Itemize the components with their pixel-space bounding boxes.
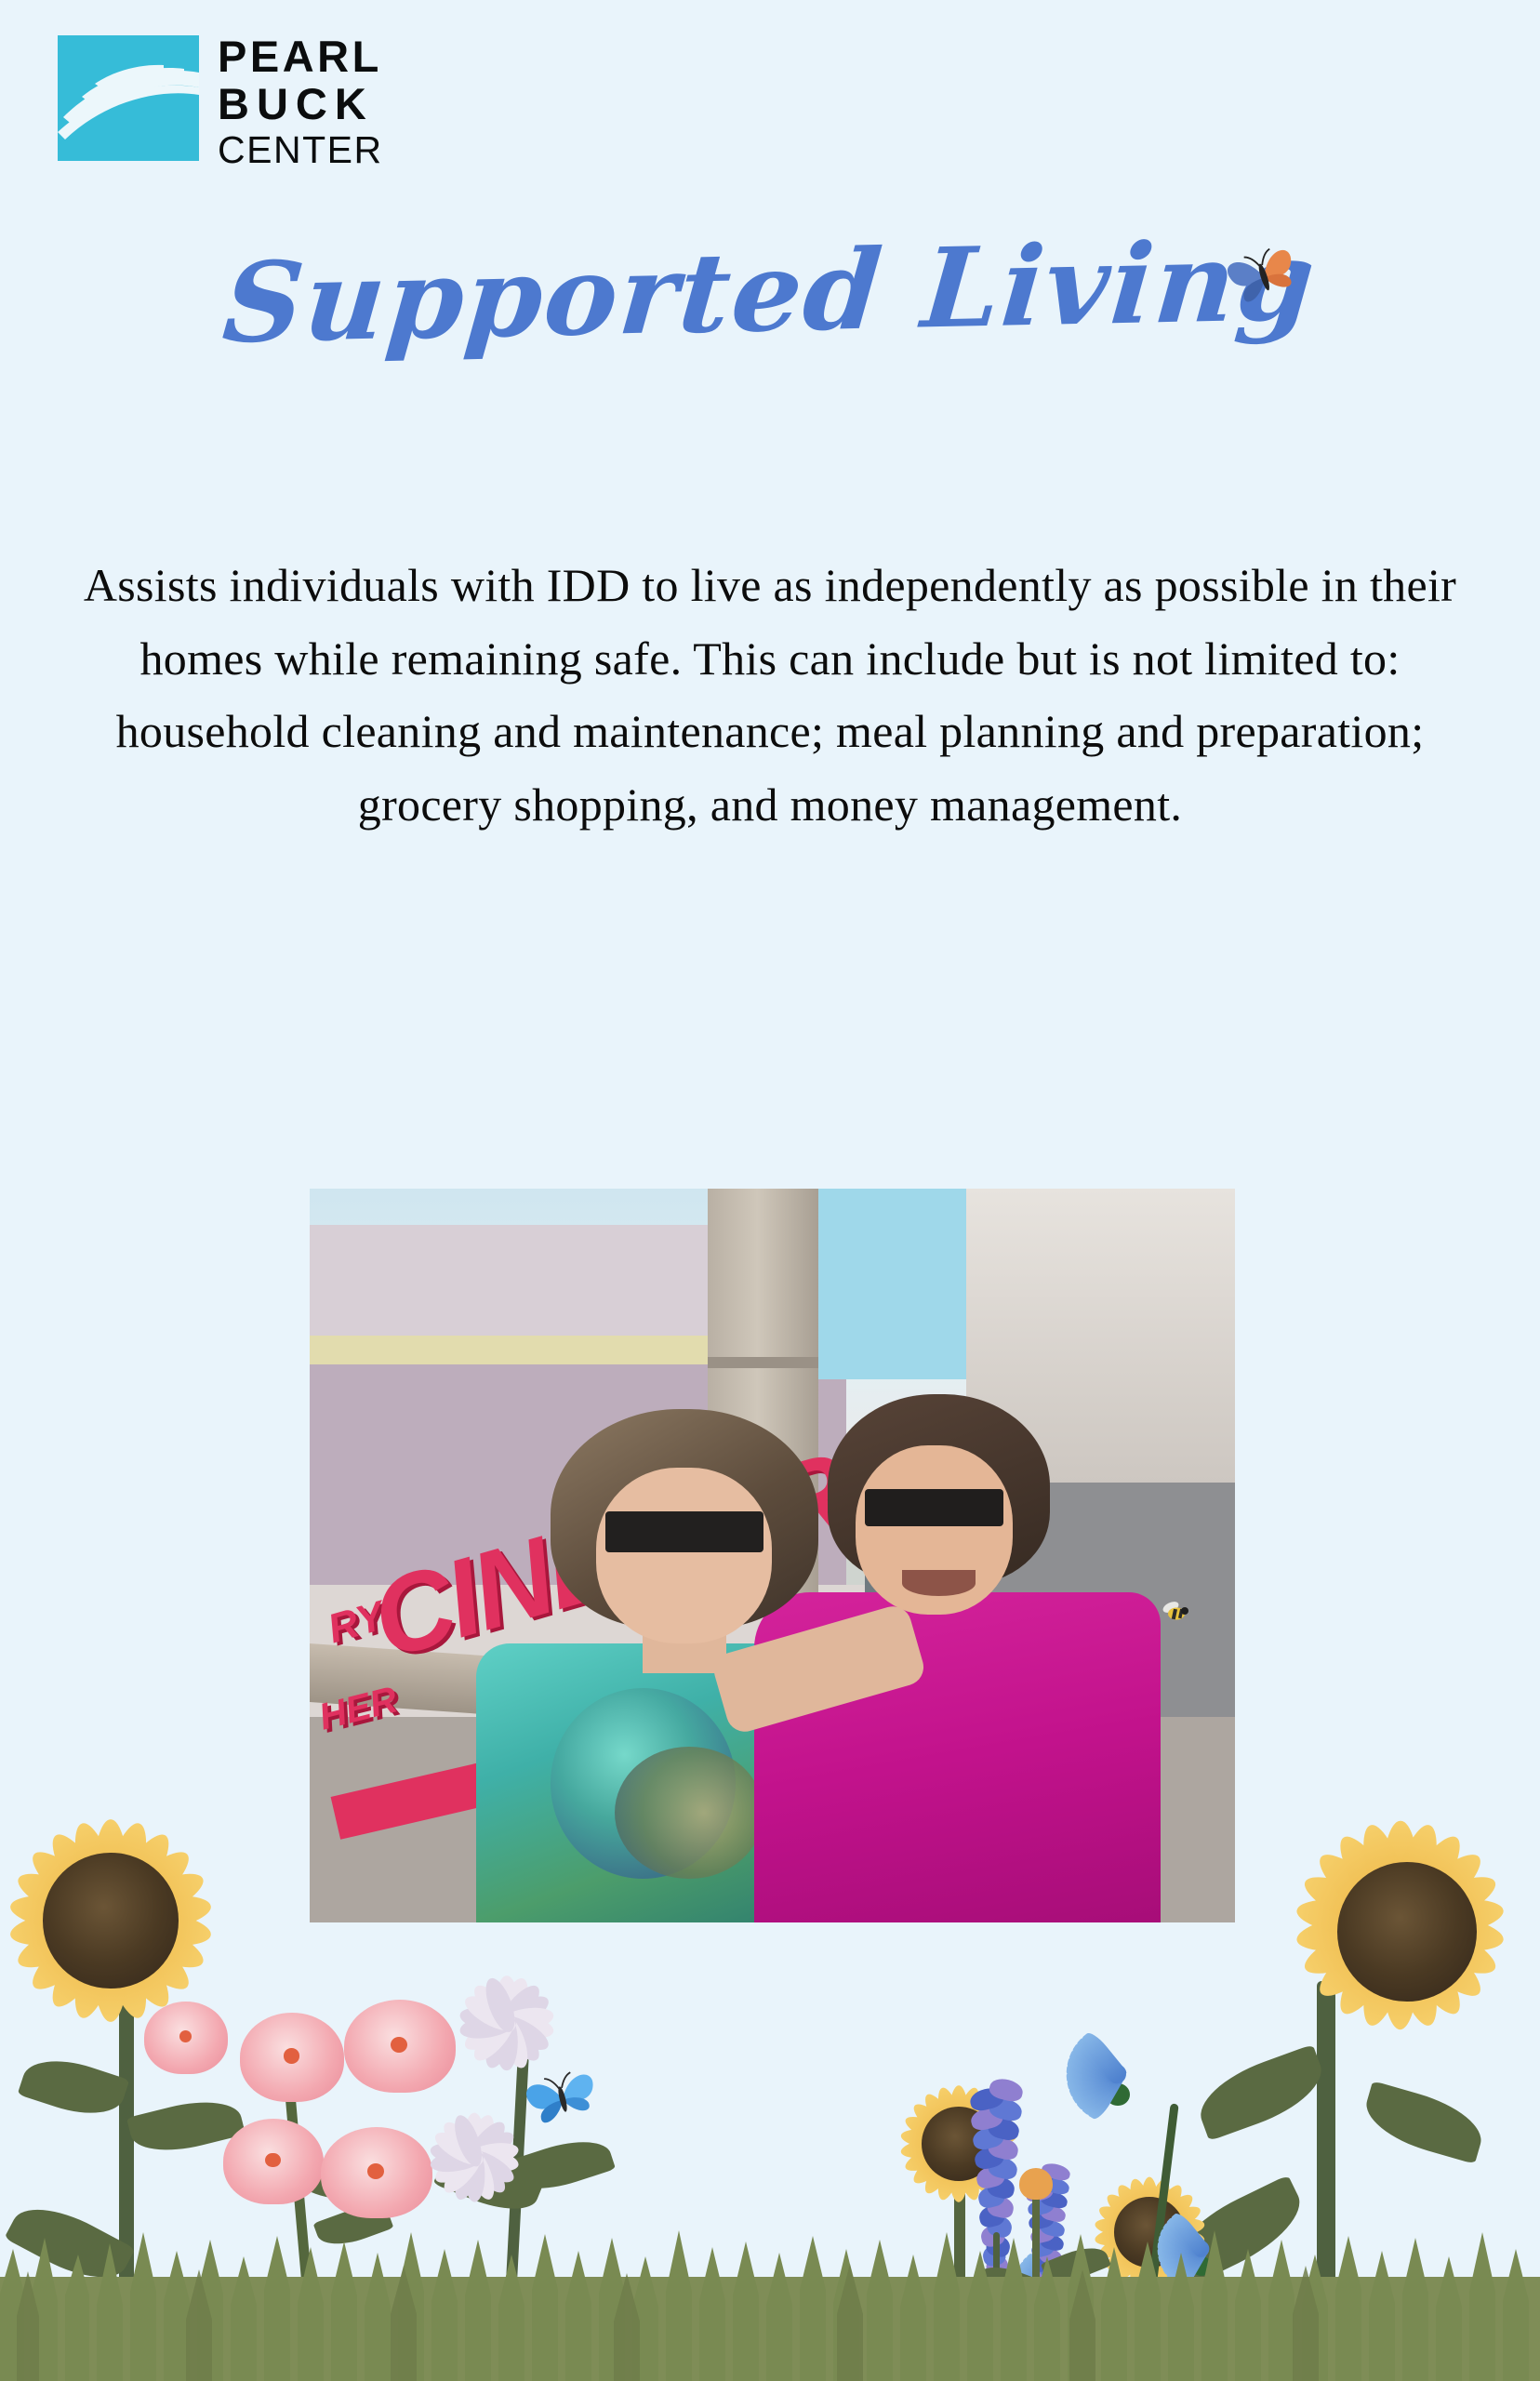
bee-icon <box>1161 1600 1192 1624</box>
sunflower-petals <box>870 2055 1047 2232</box>
daisy-petal <box>464 2148 485 2202</box>
sunflower-petal <box>1329 1828 1427 1954</box>
lavender-bud <box>1029 2225 1055 2244</box>
lavender-bud <box>984 2282 1008 2307</box>
daisy-petal <box>460 2117 511 2172</box>
daisy-petal <box>468 2009 522 2067</box>
sunflower-petal <box>83 1841 199 1948</box>
daisy-petal <box>449 2146 487 2203</box>
blue-cornflower-petal <box>1167 2240 1210 2287</box>
blue-cornflower-petal <box>1015 2274 1056 2291</box>
blue-cornflower-petal <box>1078 2029 1127 2084</box>
photo-person-left-pattern-b <box>615 1747 763 1879</box>
blue-cornflower-petal <box>1016 2263 1058 2291</box>
blue-cornflower <box>1001 2241 1103 2325</box>
sunflower-petal <box>1095 2218 1164 2264</box>
sunflower-core <box>1337 1862 1477 2002</box>
flower-stem <box>283 2066 317 2345</box>
sunflower-petal <box>1094 2221 1162 2250</box>
sunflower-petal <box>93 1899 128 2022</box>
sunflower-petal <box>943 2098 1010 2160</box>
lavender-bud <box>1025 2182 1055 2202</box>
sunflower-petal <box>1298 1866 1428 1951</box>
lavender-bud <box>1038 2289 1059 2308</box>
lavender-bud <box>1036 2296 1056 2315</box>
sunflower-petal <box>1135 2218 1203 2264</box>
blue-cornflower <box>1140 2200 1261 2297</box>
sunflower-petal <box>933 2085 972 2159</box>
sunflower-petal <box>8 1889 135 1941</box>
lavender-bud <box>973 2145 1006 2172</box>
flower-leaf <box>1162 2175 1313 2287</box>
blue-cornflower-petal <box>1017 2258 1059 2292</box>
lavender-bud <box>979 2223 1007 2248</box>
photo-person-left-face <box>596 1468 772 1643</box>
daisy-petal <box>496 2014 518 2070</box>
daisy-petal <box>464 2146 521 2175</box>
orange-sprig-bud <box>1019 2168 1053 2200</box>
daisy-petal <box>449 2112 487 2170</box>
lavender-sprig <box>963 2083 1029 2353</box>
program-description: Assists individuals with IDD to live as … <box>61 549 1479 841</box>
sunflower-petal <box>83 1894 199 2001</box>
sunflower-petal <box>943 2130 1016 2177</box>
pink-blossom-core <box>265 2153 280 2168</box>
daisy-petal <box>429 2140 485 2170</box>
blue-cornflower-petal <box>1162 2240 1209 2283</box>
page-title-text: Supported Living <box>219 226 1321 359</box>
sunflower-petal <box>933 2129 972 2202</box>
grass-band <box>0 2204 1540 2381</box>
sunflower <box>0 1767 264 2074</box>
daisy-petal <box>438 2117 488 2172</box>
daisy-petal <box>460 2009 521 2056</box>
blue-cornflower-petal <box>1157 2241 1206 2260</box>
pink-blossom <box>321 2127 432 2218</box>
sunflower-petal <box>1136 2221 1205 2250</box>
pearl-buck-center-logo: PEARL BUCK CENTER <box>58 35 383 169</box>
sunflower-petal <box>1377 1820 1448 1952</box>
daisy-petal <box>493 1975 533 2036</box>
sunflower-petal <box>1135 2188 1198 2247</box>
lavender-bud <box>1030 2240 1055 2259</box>
blue-cornflower-petal <box>1172 2241 1210 2290</box>
sunflower-petal <box>899 2132 972 2162</box>
sunflower-petal <box>1329 1896 1427 2023</box>
lavender-bud <box>988 2076 1026 2104</box>
blue-cornflower-petal <box>1067 2046 1125 2084</box>
sunflower-petal <box>1101 2188 1164 2247</box>
page-title: Supported Living <box>0 237 1540 347</box>
daisy-petal <box>468 1979 522 2037</box>
blue-cornflower-petal <box>1158 2240 1208 2273</box>
lavender-bud <box>988 2095 1024 2123</box>
pink-blossom <box>344 2000 456 2093</box>
sunflower-petal <box>901 2130 974 2177</box>
lavender-bud <box>984 2272 1008 2296</box>
sunflower-petal <box>11 1863 138 1946</box>
sunflower-petal <box>11 1895 138 1978</box>
sunflower-petal <box>1373 1899 1503 1985</box>
sunflower-petal <box>1124 2218 1162 2288</box>
blue-cornflower-petal <box>1073 2034 1127 2084</box>
sunflower-petal <box>1372 1897 1491 2008</box>
sunflower-petal <box>1374 1828 1472 1954</box>
blue-cornflower-petal <box>1069 2064 1126 2109</box>
sunflower-petal <box>22 1894 139 2001</box>
daisy <box>400 2083 549 2232</box>
sunflower-petal <box>65 1818 134 1946</box>
daisy-petal <box>493 2009 553 2056</box>
blue-cornflower-core <box>1191 2256 1212 2276</box>
lavender-bud <box>1031 2254 1055 2273</box>
sunflower-petal <box>1376 1904 1507 1958</box>
lavender-bud <box>1034 2282 1056 2301</box>
lavender-bud <box>1038 2304 1058 2322</box>
sunflower-petal <box>919 2089 974 2160</box>
sunflower-petal <box>1382 1821 1418 1948</box>
sunflower-petal <box>908 2128 975 2189</box>
blue-cornflower-petal <box>1020 2276 1059 2313</box>
flower-stem <box>1317 1981 1335 2381</box>
daisy-petal <box>496 2003 555 2035</box>
daisy-core <box>458 2141 490 2174</box>
blue-cornflower-petal <box>1073 2064 1127 2114</box>
blue-cornflower-petal <box>1023 2276 1059 2316</box>
blue-cornflower-petal <box>1016 2276 1058 2304</box>
sunflower-petal <box>919 2128 974 2199</box>
flower-leaf <box>506 2130 616 2201</box>
sunflower-petal <box>1124 2176 1162 2246</box>
lavender-bud <box>967 2085 1004 2113</box>
photo-person-right-smile <box>902 1570 976 1596</box>
logo-line-buck: BUCK <box>218 83 383 125</box>
sunflower-petal <box>93 1819 128 1942</box>
sunflower-petal <box>1376 1893 1507 1947</box>
lavender-bud <box>1041 2161 1072 2182</box>
flower-leaf <box>974 2259 1044 2308</box>
lavender-bud <box>1040 2189 1069 2210</box>
sunflower-petal <box>949 2085 969 2156</box>
photo-sky-patch <box>818 1189 966 1379</box>
lavender-bud <box>1023 2168 1054 2189</box>
photo-person-left-sunglasses <box>605 1511 763 1551</box>
blue-cornflower-petal <box>1069 2040 1126 2085</box>
blue-cornflower-core <box>1106 2083 1130 2106</box>
sunflower-petal <box>943 2128 1010 2189</box>
sunflower-petal <box>899 2125 972 2155</box>
sunflower-petal <box>944 2128 999 2199</box>
daisy-petal <box>492 2009 546 2067</box>
sunflower-petal <box>1135 2217 1198 2276</box>
blue-cornflower-petal <box>1157 2240 1208 2267</box>
lavender-bud <box>1039 2246 1064 2266</box>
sunflower-petal <box>22 1841 139 1948</box>
lavender-bud <box>986 2194 1016 2220</box>
sunflower-petal <box>85 1893 180 2015</box>
lavender-bud <box>1040 2203 1068 2224</box>
daisy-petal <box>431 2126 487 2171</box>
sunflower-petal <box>1140 2220 1160 2287</box>
blue-cornflower-petal <box>1167 2210 1210 2257</box>
sunflower-petal <box>65 1895 134 2022</box>
daisy-petal <box>461 2112 499 2170</box>
lavender-stem <box>993 2232 1000 2354</box>
lavender-bud <box>971 2125 1005 2152</box>
sunflower-petal <box>1309 1897 1428 2008</box>
sunflower-petal <box>945 2132 1017 2162</box>
lavender-stem <box>1044 2275 1051 2363</box>
lavender-bud <box>982 2263 1007 2288</box>
blue-cornflower-petal <box>1158 2224 1208 2257</box>
daisy-petal <box>493 2010 533 2071</box>
lavender-bud <box>985 2233 1012 2258</box>
flower-leaf <box>313 2198 394 2253</box>
sunflower-petal <box>1136 2215 1205 2243</box>
flower-leaf <box>276 2146 366 2210</box>
lavender-bud <box>986 2154 1018 2180</box>
sunflower-petal <box>86 1889 213 1941</box>
sunflower-petal <box>1382 1903 1418 2029</box>
sunflower-petal <box>86 1900 213 1952</box>
pink-blossom <box>144 2002 228 2074</box>
daisy-core <box>489 2005 524 2040</box>
sunflower-petal <box>1111 2180 1163 2247</box>
flower-leaf <box>1041 2240 1111 2290</box>
daisy-petal <box>438 2144 488 2199</box>
flower-stem <box>1141 2103 1179 2344</box>
pink-blossom <box>223 2119 324 2204</box>
daisy-petal <box>464 2140 521 2170</box>
sunflower-petal <box>946 2085 985 2159</box>
butterfly-icon <box>1224 240 1304 313</box>
daisy-petal <box>460 2144 511 2199</box>
flower-leaf <box>4 2192 135 2295</box>
lavender-bud <box>974 2164 1005 2190</box>
sunflower-petal <box>908 2098 975 2160</box>
blue-cornflower-petal <box>1028 2277 1059 2319</box>
flower-leaf <box>126 2091 246 2162</box>
sunflower-petal <box>945 2125 1017 2155</box>
sunflower-petal <box>8 1900 135 1952</box>
blue-cornflower-petal <box>1084 2065 1128 2122</box>
daisy-petal <box>493 1989 553 2037</box>
blue-cornflower-petal <box>1015 2276 1057 2298</box>
lavender-bud <box>1037 2311 1056 2330</box>
lavender-bud <box>969 2105 1004 2132</box>
sunflower <box>870 2055 1047 2232</box>
blue-cornflower-petal <box>1066 2065 1122 2087</box>
sunflower-petal <box>901 2110 974 2158</box>
sunflower-petal <box>1095 2201 1164 2246</box>
pink-blossom <box>240 2013 344 2102</box>
sunflower-petal <box>84 1863 210 1946</box>
blue-cornflower-petal <box>1015 2277 1056 2294</box>
butterfly-icon <box>521 2064 604 2135</box>
sunflower-petal <box>1294 1893 1425 1947</box>
sunflower-petal <box>1135 2217 1187 2284</box>
sunflower-petal <box>1135 2180 1187 2247</box>
blue-cornflower-petal <box>1017 2276 1059 2309</box>
sunflower-petal <box>1135 2201 1203 2246</box>
flower-stem <box>119 1981 134 2381</box>
sunflower-petals <box>0 1767 264 2074</box>
lavender-bud <box>1026 2197 1055 2217</box>
daisy-petal <box>461 2145 518 2189</box>
lavender-bud <box>1038 2275 1060 2294</box>
sunflower-petal <box>946 2129 985 2202</box>
flower-leaf <box>18 2048 130 2125</box>
blue-cornflower-petal <box>1066 2061 1122 2083</box>
lavender-bud <box>981 2243 1007 2268</box>
blue-cornflower-petal <box>1078 2064 1127 2119</box>
sunflower-petal <box>1373 1866 1503 1951</box>
sunflower-petal <box>1101 2217 1164 2276</box>
lavender-bud <box>977 2203 1006 2229</box>
sunflower-petal <box>1377 1899 1448 2031</box>
lavender-sprig <box>1019 2167 1075 2362</box>
blue-cornflower-petal <box>1023 2251 1059 2291</box>
daisy-petal <box>460 1989 521 2037</box>
lavender-bud <box>1039 2218 1066 2239</box>
sunflower-petal <box>87 1895 156 2022</box>
daisy-petal <box>464 2113 485 2167</box>
lavender-bud <box>1038 2261 1062 2281</box>
sunflower-petal <box>41 1893 137 2015</box>
lavender-bud <box>986 2174 1016 2200</box>
daisy-petal <box>431 2145 487 2189</box>
pink-blossom-core <box>367 2163 384 2179</box>
logo-line-center: CENTER <box>218 132 383 168</box>
daisy-petal <box>496 1975 518 2032</box>
sunflower-petal <box>1137 2218 1175 2288</box>
blue-cornflower-petal <box>1160 2218 1209 2257</box>
photo-person-right-sunglasses <box>865 1489 1003 1525</box>
lavender-bud <box>985 2214 1014 2239</box>
program-photo: RY HER CINEMARK <box>310 1189 1235 1922</box>
sunflower-core <box>1114 2197 1185 2268</box>
daisy-petal <box>492 1979 546 2037</box>
daisy-petal <box>461 2146 499 2203</box>
poster-canvas: PEARL BUCK CENTER Supported Living Assis… <box>0 0 1540 2381</box>
flower-leaf <box>1359 2081 1489 2164</box>
logo-wave-mark <box>58 35 199 161</box>
blue-cornflower-petal <box>1015 2268 1057 2291</box>
blue-cornflower-petal <box>1066 2054 1124 2084</box>
daisy-petal <box>480 2010 520 2071</box>
sunflower-petal <box>87 1818 156 1946</box>
flower-stem <box>502 2055 529 2353</box>
sunflower-petal <box>944 2089 999 2160</box>
blue-cornflower <box>1047 2018 1187 2130</box>
sunflower-petal <box>943 2110 1016 2158</box>
sunflower-petal <box>1137 2176 1175 2246</box>
sunflower-petal <box>1374 1896 1472 2023</box>
daisy-petal <box>461 2126 518 2171</box>
photo-pillar-line <box>708 1357 818 1367</box>
blue-cornflower-petal <box>1157 2237 1206 2256</box>
sunflower-petals <box>1066 2148 1233 2316</box>
daisy-petal <box>458 2003 518 2035</box>
sunflower-petal <box>1111 2217 1163 2284</box>
flower-leaf <box>1190 2044 1332 2141</box>
blue-cornflower-petal <box>1067 2064 1125 2102</box>
sunflower-petal <box>1094 2215 1162 2243</box>
sunflower-petal <box>1309 1843 1428 1954</box>
daisy-petal <box>458 2011 518 2042</box>
daisy <box>428 1944 586 2102</box>
daisy-petal <box>496 2011 555 2042</box>
sunflower <box>1242 1767 1540 2083</box>
blue-cornflower-petal <box>1066 2064 1124 2095</box>
lavender-bud <box>1039 2232 1065 2252</box>
pink-blossom-core <box>284 2048 299 2063</box>
blue-cornflower-petal <box>1157 2230 1208 2257</box>
daisy-petal <box>480 1975 520 2036</box>
sunflower-petal <box>1298 1899 1428 1985</box>
sunflower-core <box>43 1853 178 1988</box>
sunflower-petal <box>41 1826 137 1949</box>
sunflower-petal <box>85 1826 180 1949</box>
blue-cornflower-petal <box>1020 2254 1059 2291</box>
sunflower-petal <box>1140 2177 1160 2244</box>
blue-cornflower-petal <box>1160 2240 1209 2279</box>
lavender-bud <box>976 2184 1006 2210</box>
sunflower-petal <box>1354 1899 1425 2031</box>
logo-line-pearl: PEARL <box>218 35 383 77</box>
flower-leaf <box>433 2146 543 2222</box>
sunflower-petal <box>1294 1904 1425 1958</box>
lavender-bud <box>1033 2268 1056 2287</box>
lavender-bud <box>1028 2211 1055 2231</box>
pink-blossom-core <box>179 2030 192 2042</box>
blue-cornflower-core <box>1043 2290 1061 2307</box>
flower-stem <box>954 2186 965 2381</box>
blue-cornflower-petal <box>1162 2214 1209 2257</box>
sunflower-core <box>922 2107 996 2181</box>
pink-blossom-core <box>391 2037 407 2053</box>
daisy-petal <box>429 2146 485 2175</box>
lavender-bud <box>987 2135 1020 2162</box>
sunflower <box>1066 2148 1233 2316</box>
lavender-bud <box>987 2115 1022 2142</box>
lavender-bud <box>1040 2175 1070 2197</box>
sunflower-petal <box>1372 1843 1491 1954</box>
sunflower-petal <box>949 2132 969 2202</box>
sprig-stem <box>1032 2186 1040 2325</box>
lavender-bud <box>985 2253 1011 2278</box>
sunflower-petals <box>1242 1767 1540 2083</box>
sunflower-petal <box>84 1895 210 1978</box>
sunflower-petal <box>1354 1820 1425 1952</box>
